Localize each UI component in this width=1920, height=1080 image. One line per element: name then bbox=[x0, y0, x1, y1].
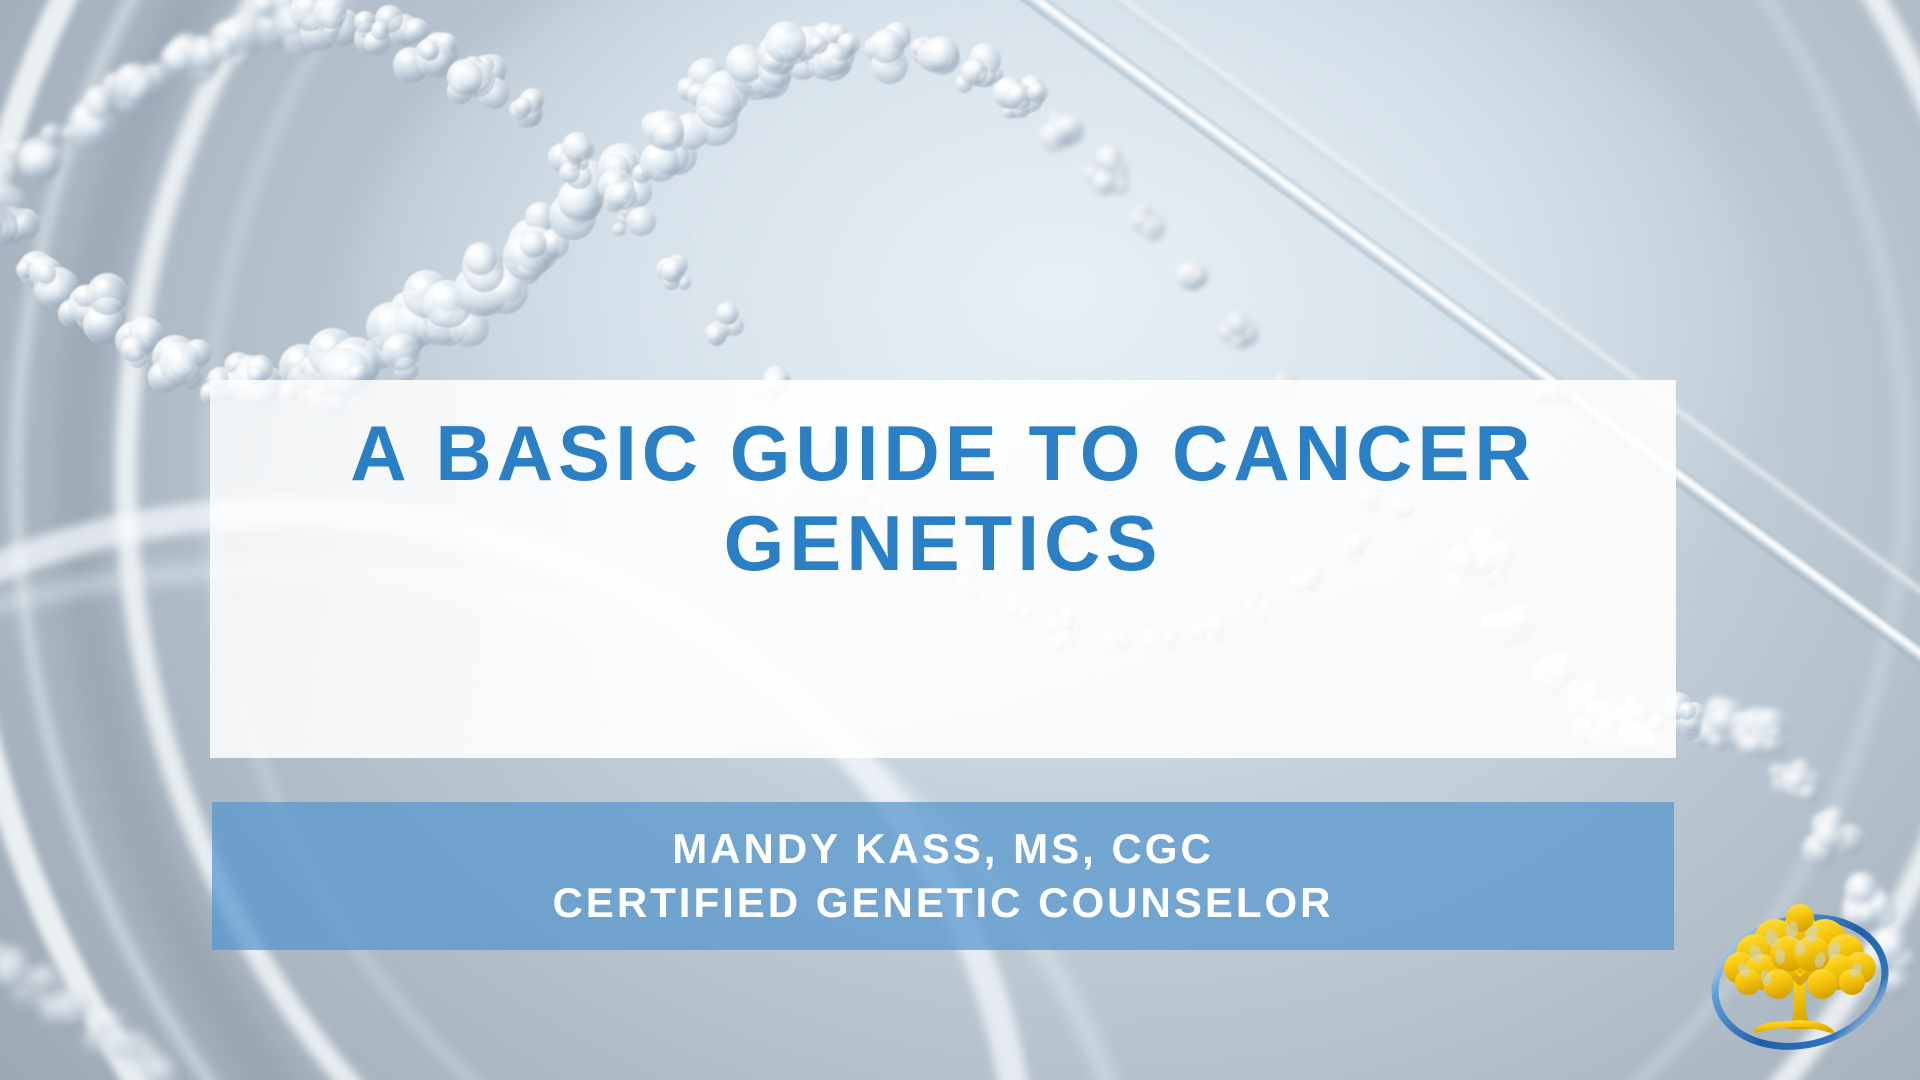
dna-bubble bbox=[1764, 738, 1778, 752]
dna-bubble bbox=[716, 302, 739, 325]
dna-bubble bbox=[159, 342, 202, 385]
dna-bubble bbox=[1192, 268, 1208, 284]
dna-bubble bbox=[626, 207, 656, 237]
tree-logo bbox=[1700, 890, 1900, 1075]
dna-bubble bbox=[24, 143, 61, 180]
dna-bubble bbox=[1145, 222, 1157, 234]
dna-bubble bbox=[696, 83, 741, 128]
dna-bubble bbox=[706, 325, 728, 347]
dna-bubble bbox=[1027, 82, 1048, 103]
dna-bubble bbox=[809, 35, 828, 54]
presentation-slide: A BASIC GUIDE TO CANCER GENETICS MANDY K… bbox=[0, 0, 1920, 1080]
presenter-info: MANDY KASS, MS, CGC CERTIFIED GENETIC CO… bbox=[552, 822, 1333, 930]
dna-bubble bbox=[121, 336, 146, 361]
page-title: A BASIC GUIDE TO CANCER GENETICS bbox=[253, 408, 1633, 589]
dna-bubble bbox=[765, 21, 807, 63]
dna-bubble bbox=[160, 44, 192, 76]
dna-bubble bbox=[609, 182, 637, 210]
presenter-role: CERTIFIED GENETIC COUNSELOR bbox=[552, 876, 1333, 930]
tree-logo-icon bbox=[1700, 890, 1900, 1075]
presenter-bar: MANDY KASS, MS, CGC CERTIFIED GENETIC CO… bbox=[212, 802, 1674, 950]
dna-bubble bbox=[87, 273, 128, 314]
dna-bubble bbox=[520, 231, 547, 258]
dna-bubble bbox=[1226, 312, 1249, 335]
dna-bubble bbox=[1814, 818, 1846, 850]
dna-bubble bbox=[371, 21, 389, 39]
dna-bubble bbox=[514, 97, 532, 115]
dna-bubble bbox=[923, 36, 959, 72]
dna-bubble bbox=[1769, 764, 1783, 778]
dna-bubble bbox=[661, 258, 686, 283]
dna-bubble bbox=[1678, 702, 1696, 720]
dna-bubble bbox=[105, 1032, 128, 1055]
dna-bubble bbox=[559, 162, 580, 183]
dna-bubble bbox=[869, 29, 903, 63]
dna-bubble bbox=[115, 63, 157, 105]
dna-bubble bbox=[1799, 785, 1818, 804]
presenter-name: MANDY KASS, MS, CGC bbox=[552, 822, 1333, 876]
dna-bubble bbox=[421, 43, 439, 61]
dna-bubble bbox=[382, 333, 420, 371]
dna-bubble bbox=[36, 966, 59, 989]
dna-bubble bbox=[11, 953, 26, 968]
dna-bubble bbox=[612, 223, 625, 236]
title-panel: A BASIC GUIDE TO CANCER GENETICS bbox=[210, 380, 1676, 758]
dna-bubble bbox=[1092, 170, 1118, 196]
dna-bubble bbox=[150, 1057, 176, 1080]
